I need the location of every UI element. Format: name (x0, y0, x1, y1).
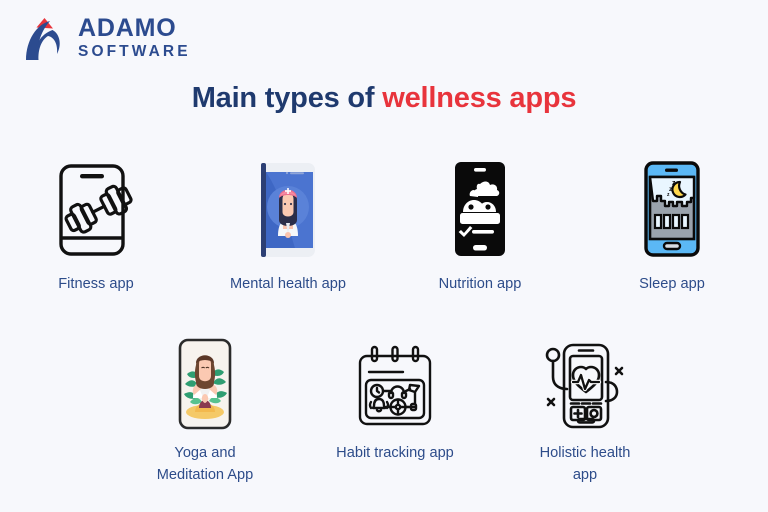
app-type-item: Fitness app (0, 155, 192, 295)
phone-dumbbell-icon (53, 155, 139, 260)
app-type-label: Holistic health app (540, 442, 631, 486)
svg-text:z: z (672, 180, 676, 187)
app-type-label: Mental health app (230, 273, 346, 295)
app-type-row-1: Fitness app (0, 155, 768, 295)
app-type-item: Habit tracking app (300, 332, 490, 486)
brand-wordmark: ADAMO SOFTWARE (78, 16, 191, 60)
page-title-part1: Main types of (192, 82, 383, 114)
calendar-habit-tracker-icon (355, 332, 435, 430)
infographic-page: ADAMO SOFTWARE Main types of wellness ap… (0, 0, 768, 512)
app-type-label: Nutrition app (439, 273, 522, 295)
app-type-item: z z z Sleep app (576, 155, 768, 295)
adamo-swoosh-logo-icon (20, 14, 68, 62)
app-type-label: Habit tracking app (336, 442, 454, 464)
phone-meditation-lotus-icon (177, 332, 233, 430)
app-type-item: Nutrition app (384, 155, 576, 295)
phone-moon-zzz-city-icon: z z z (641, 155, 703, 260)
phone-brain-person-icon (257, 155, 319, 260)
app-type-row-2: Yoga and Meditation App (110, 332, 680, 486)
app-type-item: Holistic health app (490, 332, 680, 486)
app-type-item: Yoga and Meditation App (110, 332, 300, 486)
brand-name-primary: ADAMO (78, 16, 191, 41)
brand-name-secondary: SOFTWARE (78, 44, 191, 60)
app-type-label: Sleep app (639, 273, 705, 295)
brand-logo: ADAMO SOFTWARE (20, 14, 191, 62)
page-title: Main types of wellness apps (0, 82, 768, 115)
app-type-label: Yoga and Meditation App (157, 442, 254, 486)
app-type-item: Mental health app (192, 155, 384, 295)
phone-heartbeat-stethoscope-icon (538, 332, 632, 430)
app-type-label: Fitness app (58, 273, 133, 295)
page-title-part2: wellness apps (382, 82, 576, 114)
phone-salad-bowl-icon (449, 155, 511, 260)
